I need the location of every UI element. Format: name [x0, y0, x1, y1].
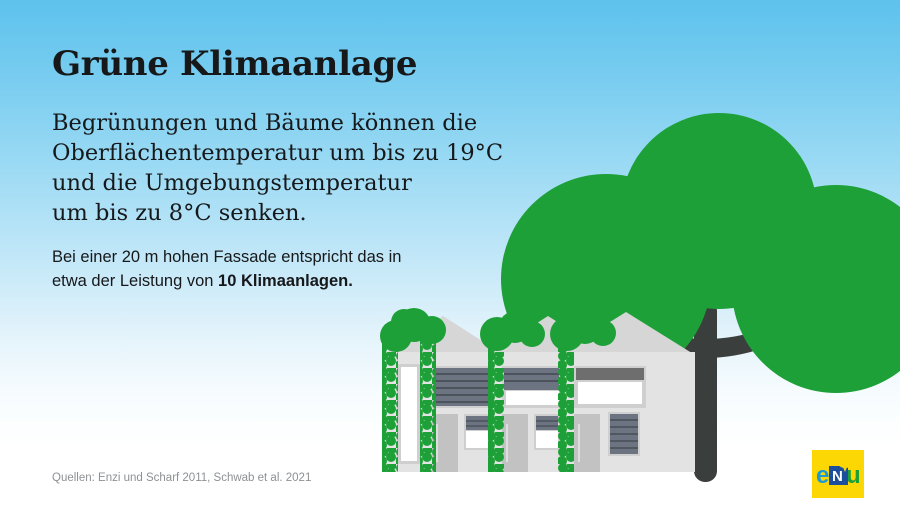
enu-logo-glyphs: e u N: [812, 450, 864, 498]
lead-line-1: Begrünungen und Bäume können die: [52, 108, 572, 138]
enu-logo[interactable]: e u N: [812, 450, 864, 498]
logo-letter-e: e: [816, 462, 829, 489]
infographic-canvas: Grüne Klimaanlage Begrünungen und Bäume …: [0, 0, 900, 506]
detail-line-1: Bei einer 20 m hohen Fassade entspricht …: [52, 245, 522, 269]
lead-line-4: um bis zu 8°C senken.: [52, 198, 572, 228]
detail-emphasis: 10 Klimaanlagen.: [218, 272, 353, 290]
lead-line-3: und die Umgebungstemperatur: [52, 168, 572, 198]
logo-letter-n: N: [832, 468, 843, 485]
source-note: Quellen: Enzi und Scharf 2011, Schwab et…: [52, 472, 311, 484]
detail-line-2: etwa der Leistung von 10 Klimaanlagen.: [52, 269, 522, 293]
detail-line-2-prefix: etwa der Leistung von: [52, 272, 218, 290]
page-title: Grüne Klimaanlage: [52, 44, 417, 84]
lead-line-2: Oberflächentemperatur um bis zu 19°C: [52, 138, 572, 168]
detail-paragraph: Bei einer 20 m hohen Fassade entspricht …: [52, 245, 522, 293]
lead-paragraph: Begrünungen und Bäume können die Oberflä…: [52, 108, 572, 228]
text-content: Grüne Klimaanlage Begrünungen und Bäume …: [0, 0, 900, 506]
